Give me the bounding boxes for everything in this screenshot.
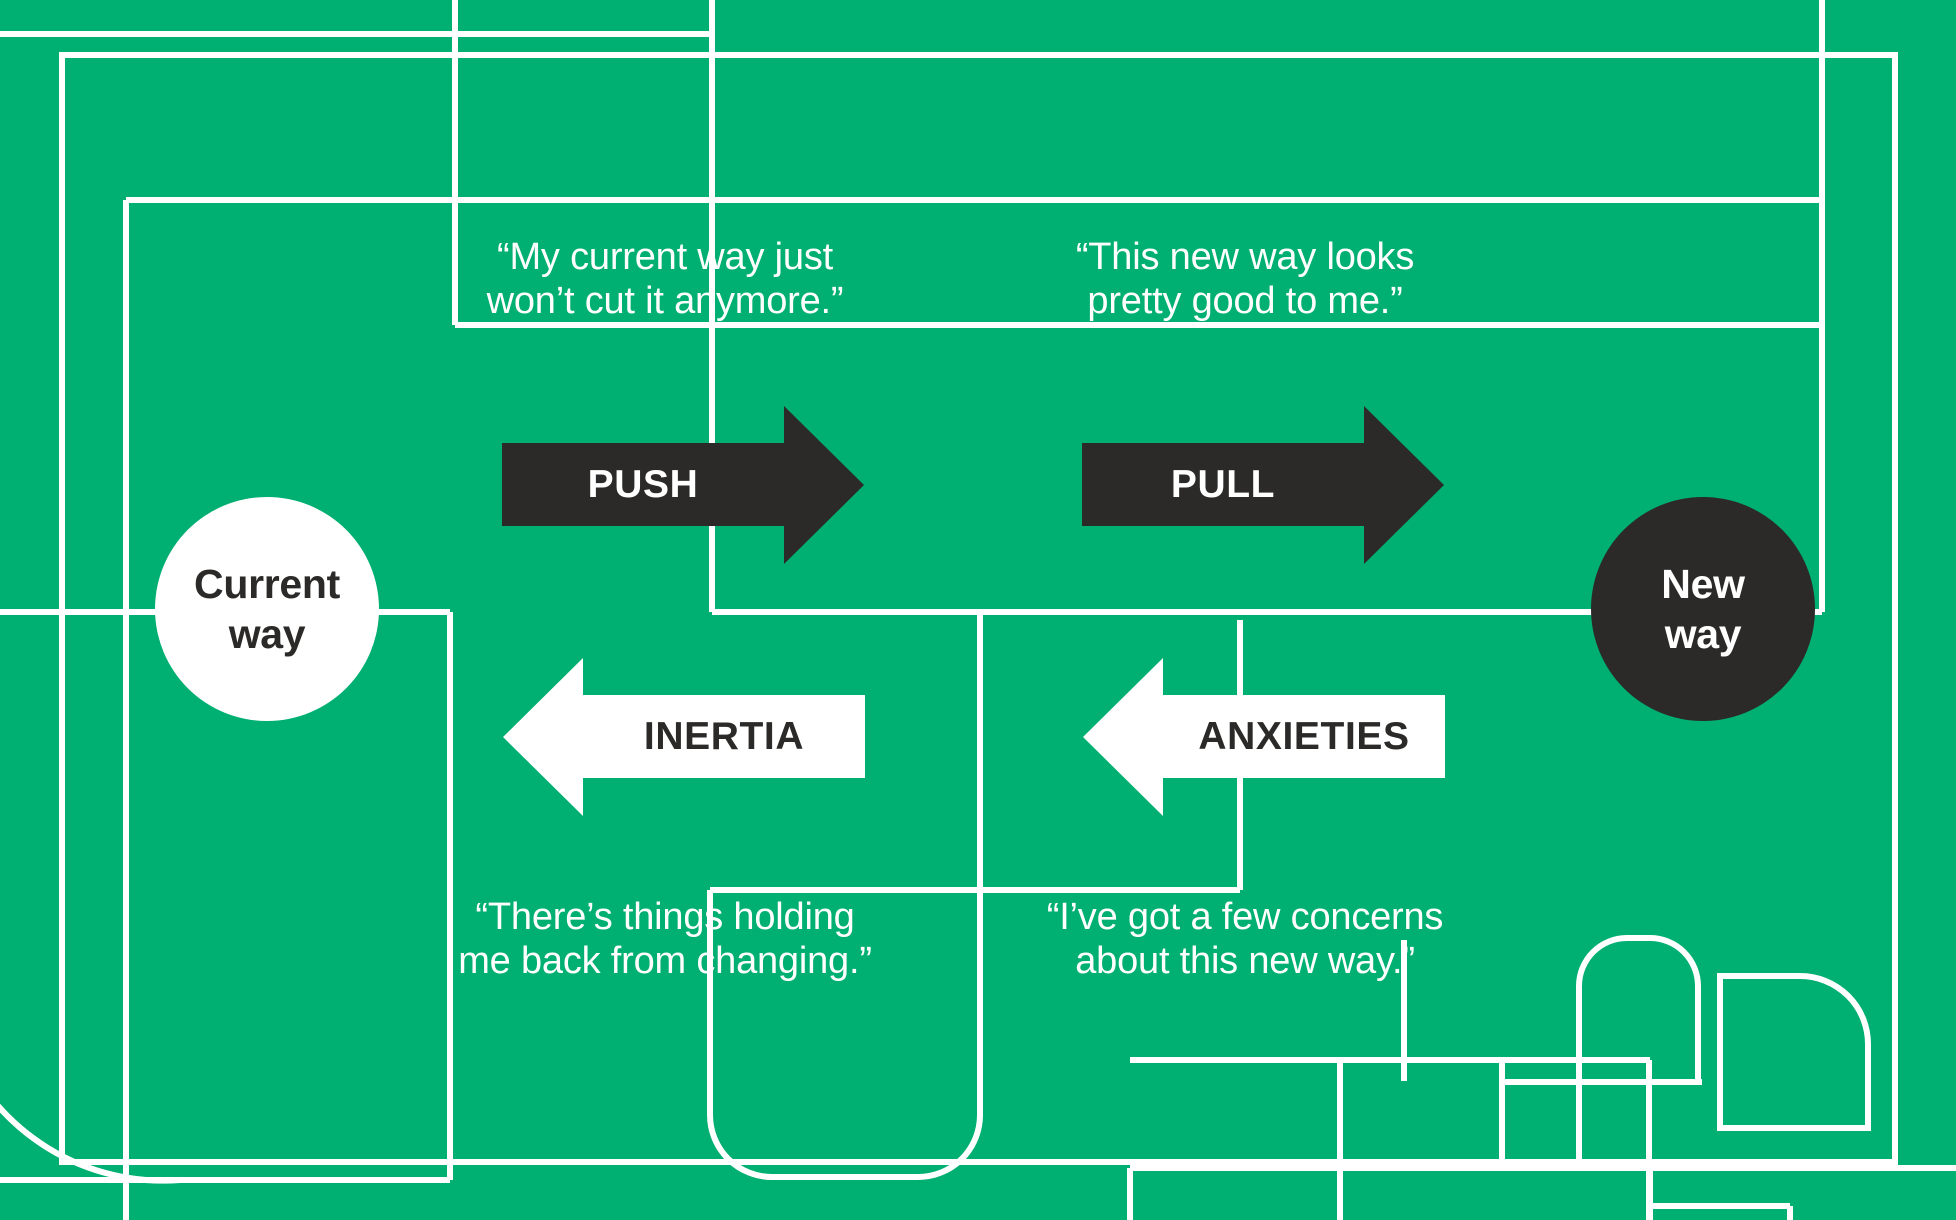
quote-inertia: “There’s things holding me back from cha… xyxy=(430,895,900,984)
diagram-canvas: “My current way just won’t cut it anymor… xyxy=(0,0,1956,1220)
deco-arc-left xyxy=(0,1045,180,1181)
quote-pull: “This new way looks pretty good to me.” xyxy=(1010,235,1480,324)
node-new-way: New way xyxy=(1591,497,1815,721)
deco-plinth-a xyxy=(1340,1060,1502,1168)
arrow-inertia: INERTIA xyxy=(503,658,865,816)
node-current-way: Current way xyxy=(155,497,379,721)
arrow-anxieties: ANXIETIES xyxy=(1083,658,1445,816)
deco-capsule-bot xyxy=(1579,938,1698,1082)
arrow-anxieties-label: ANXIETIES xyxy=(1163,658,1445,816)
arrow-push: PUSH xyxy=(502,406,864,564)
deco-rounded-square-bot xyxy=(1720,976,1868,1128)
deco-step-mid xyxy=(1502,1060,1579,1082)
quote-push: “My current way just won’t cut it anymor… xyxy=(430,235,900,324)
arrow-inertia-label: INERTIA xyxy=(583,658,865,816)
arrow-pull: PULL xyxy=(1082,406,1444,564)
quote-anxieties: “I’ve got a few concerns about this new … xyxy=(1010,895,1480,984)
arrow-pull-label: PULL xyxy=(1082,406,1364,564)
arrow-push-label: PUSH xyxy=(502,406,784,564)
